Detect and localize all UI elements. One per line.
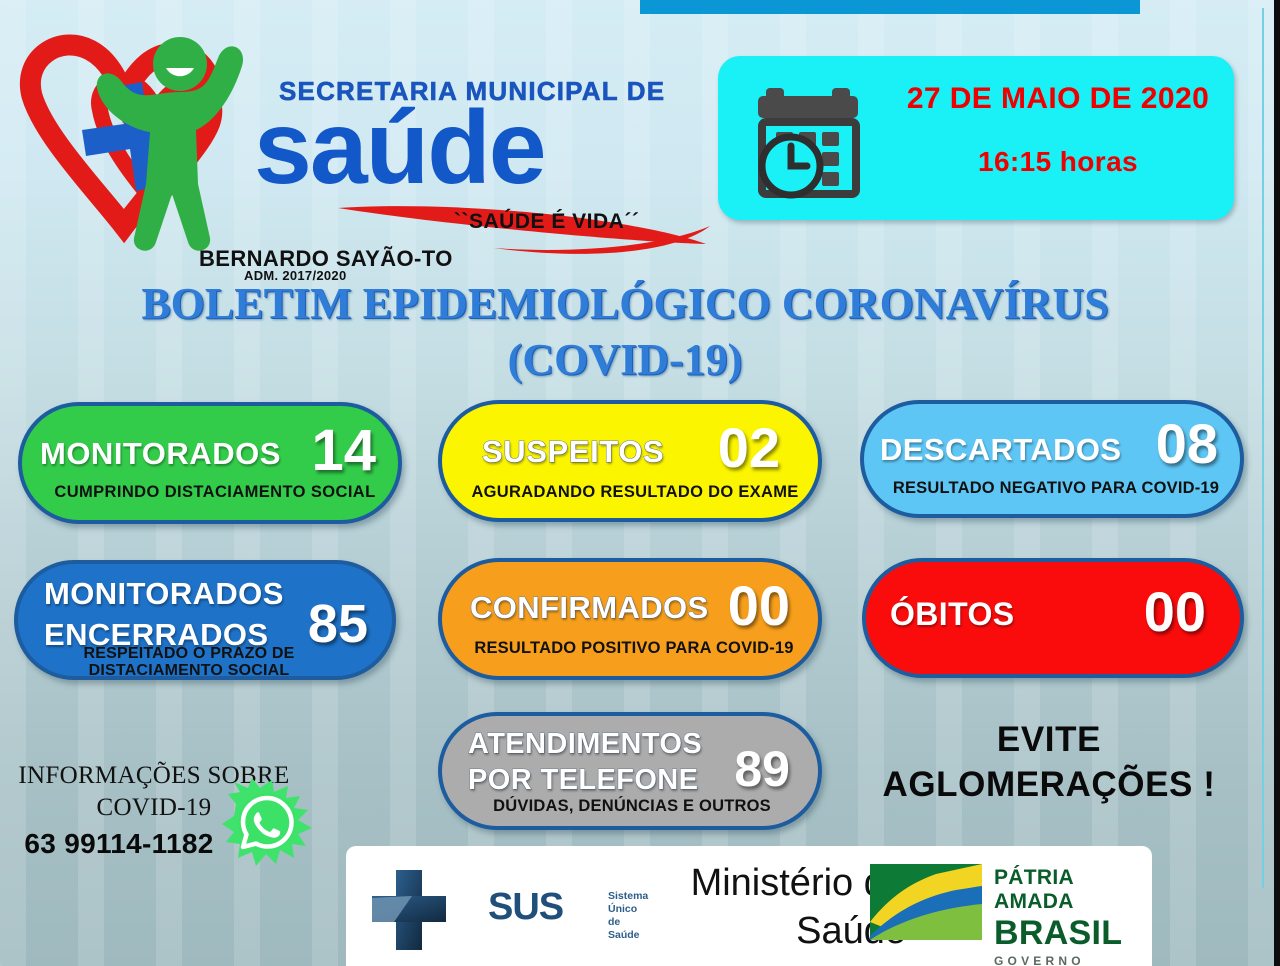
stat-label-atendimentos: ATENDIMENTOS POR TELEFONE xyxy=(468,730,702,795)
stat-card-atendimentos-telefone: ATENDIMENTOS POR TELEFONE 89 DÚVIDAS, DE… xyxy=(438,712,822,830)
page-title-line1: BOLETIM EPIDEMIOLÓGICO CORONAVÍRUS xyxy=(141,279,1108,328)
stat-sub-encerrados: RESPEITADO O PRAZO DE DISTACIAMENTO SOCI… xyxy=(58,646,320,680)
contact-phone: 63 99114-1182 xyxy=(4,828,234,860)
stat-label-suspeitos: SUSPEITOS xyxy=(482,436,664,468)
stat-sub-descartados: RESULTADO NEGATIVO PARA COVID-19 xyxy=(872,480,1240,497)
page-title: BOLETIM EPIDEMIOLÓGICO CORONAVÍRUS (COVI… xyxy=(0,276,1250,389)
stat-card-monitorados: MONITORADOS 14 CUMPRINDO DISTACIAMENTO S… xyxy=(18,402,402,524)
sus-acronym: SUS xyxy=(488,886,563,929)
brasil-line1: PÁTRIA AMADA xyxy=(994,866,1138,914)
stat-sub-encerrados-line2: DISTACIAMENTO SOCIAL xyxy=(89,662,290,679)
right-edge-bar xyxy=(1274,0,1280,966)
stat-value-atendimentos: 89 xyxy=(734,744,790,794)
right-accent-line xyxy=(1262,8,1264,888)
ministry-line2: Saúde xyxy=(586,908,906,956)
stat-label-encerrados: MONITORADOS ENCERRADOS xyxy=(44,578,284,650)
notice-line2: AGLOMERAÇÕES ! xyxy=(852,763,1246,808)
stat-label-descartados: DESCARTADOS xyxy=(880,434,1122,466)
stat-value-obitos: 00 xyxy=(1144,584,1206,640)
stat-label-encerrados-line1: MONITORADOS xyxy=(44,576,284,611)
stat-value-monitorados: 14 xyxy=(311,422,376,480)
stat-value-confirmados: 00 xyxy=(728,578,790,634)
stat-card-confirmados: CONFIRMADOS 00 RESULTADO POSITIVO PARA C… xyxy=(438,558,822,680)
page-title-line2: (COVID-19) xyxy=(0,332,1250,388)
heart-person-cross-icon xyxy=(14,18,274,268)
footer-logos-bar: SUS Sistema Único de Saúde Ministério da… xyxy=(346,846,1152,966)
stat-label-atendimentos-line1: ATENDIMENTOS xyxy=(468,728,702,760)
brasil-line3: GOVERNO FEDERAL xyxy=(994,954,1138,966)
stat-sub-confirmados: RESULTADO POSITIVO PARA COVID-19 xyxy=(452,640,816,657)
stat-sub-suspeitos: AGURADANDO RESULTADO DO EXAME xyxy=(456,484,814,501)
brasil-text-block: PÁTRIA AMADA BRASIL GOVERNO FEDERAL xyxy=(994,866,1138,966)
bulletin-date: 27 DE MAIO DE 2020 xyxy=(898,82,1218,116)
avoid-crowds-notice: EVITE AGLOMERAÇÕES ! xyxy=(852,718,1246,808)
stat-sub-monitorados: CUMPRINDO DISTACIAMENTO SOCIAL xyxy=(36,484,394,501)
stat-label-monitorados: MONITORADOS xyxy=(40,438,281,470)
patria-amada-brasil-logo: PÁTRIA AMADA BRASIL GOVERNO FEDERAL xyxy=(870,864,1138,948)
epidemiological-bulletin-poster: SECRETARIA MUNICIPAL DE saúde ``SAÚDE É … xyxy=(0,0,1280,966)
stat-label-atendimentos-line2: POR TELEFONE xyxy=(468,766,702,796)
date-time-box: 27 DE MAIO DE 2020 16:15 horas xyxy=(718,56,1234,220)
notice-line1: EVITE xyxy=(852,718,1246,763)
stat-value-descartados: 08 xyxy=(1156,416,1218,472)
whatsapp-icon[interactable] xyxy=(222,778,322,868)
brasil-line2: BRASIL xyxy=(994,916,1138,950)
secretaria-logo: SECRETARIA MUNICIPAL DE saúde ``SAÚDE É … xyxy=(14,18,714,268)
stat-value-encerrados: 85 xyxy=(308,597,368,651)
bulletin-time: 16:15 horas xyxy=(898,146,1218,178)
ministry-of-health-label: Ministério da Saúde xyxy=(586,860,906,955)
stat-label-confirmados: CONFIRMADOS xyxy=(470,592,709,624)
logo-slogan-text: ``SAÚDE É VIDA´´ xyxy=(454,210,639,234)
stat-card-descartados: DESCARTADOS 08 RESULTADO NEGATIVO PARA C… xyxy=(860,400,1244,518)
stat-label-obitos: ÓBITOS xyxy=(890,598,1015,631)
stat-card-obitos: ÓBITOS 00 xyxy=(862,558,1244,678)
stat-value-suspeitos: 02 xyxy=(718,420,780,476)
stat-card-monitorados-encerrados: MONITORADOS ENCERRADOS 85 RESPEITADO O P… xyxy=(14,560,396,680)
sus-cross-icon xyxy=(368,868,478,952)
stat-sub-atendimentos: DÚVIDAS, DENÚNCIAS E OUTROS xyxy=(452,798,812,815)
stat-sub-encerrados-line1: RESPEITADO O PRAZO DE xyxy=(83,645,294,662)
calendar-clock-icon xyxy=(758,78,888,200)
top-accent-bar xyxy=(640,0,1140,14)
brazil-flag-icon xyxy=(870,864,982,940)
stat-card-suspeitos: SUSPEITOS 02 AGURADANDO RESULTADO DO EXA… xyxy=(438,400,822,522)
sus-logo: SUS Sistema Único de Saúde xyxy=(368,868,478,957)
logo-saude-text: saúde xyxy=(254,96,545,200)
